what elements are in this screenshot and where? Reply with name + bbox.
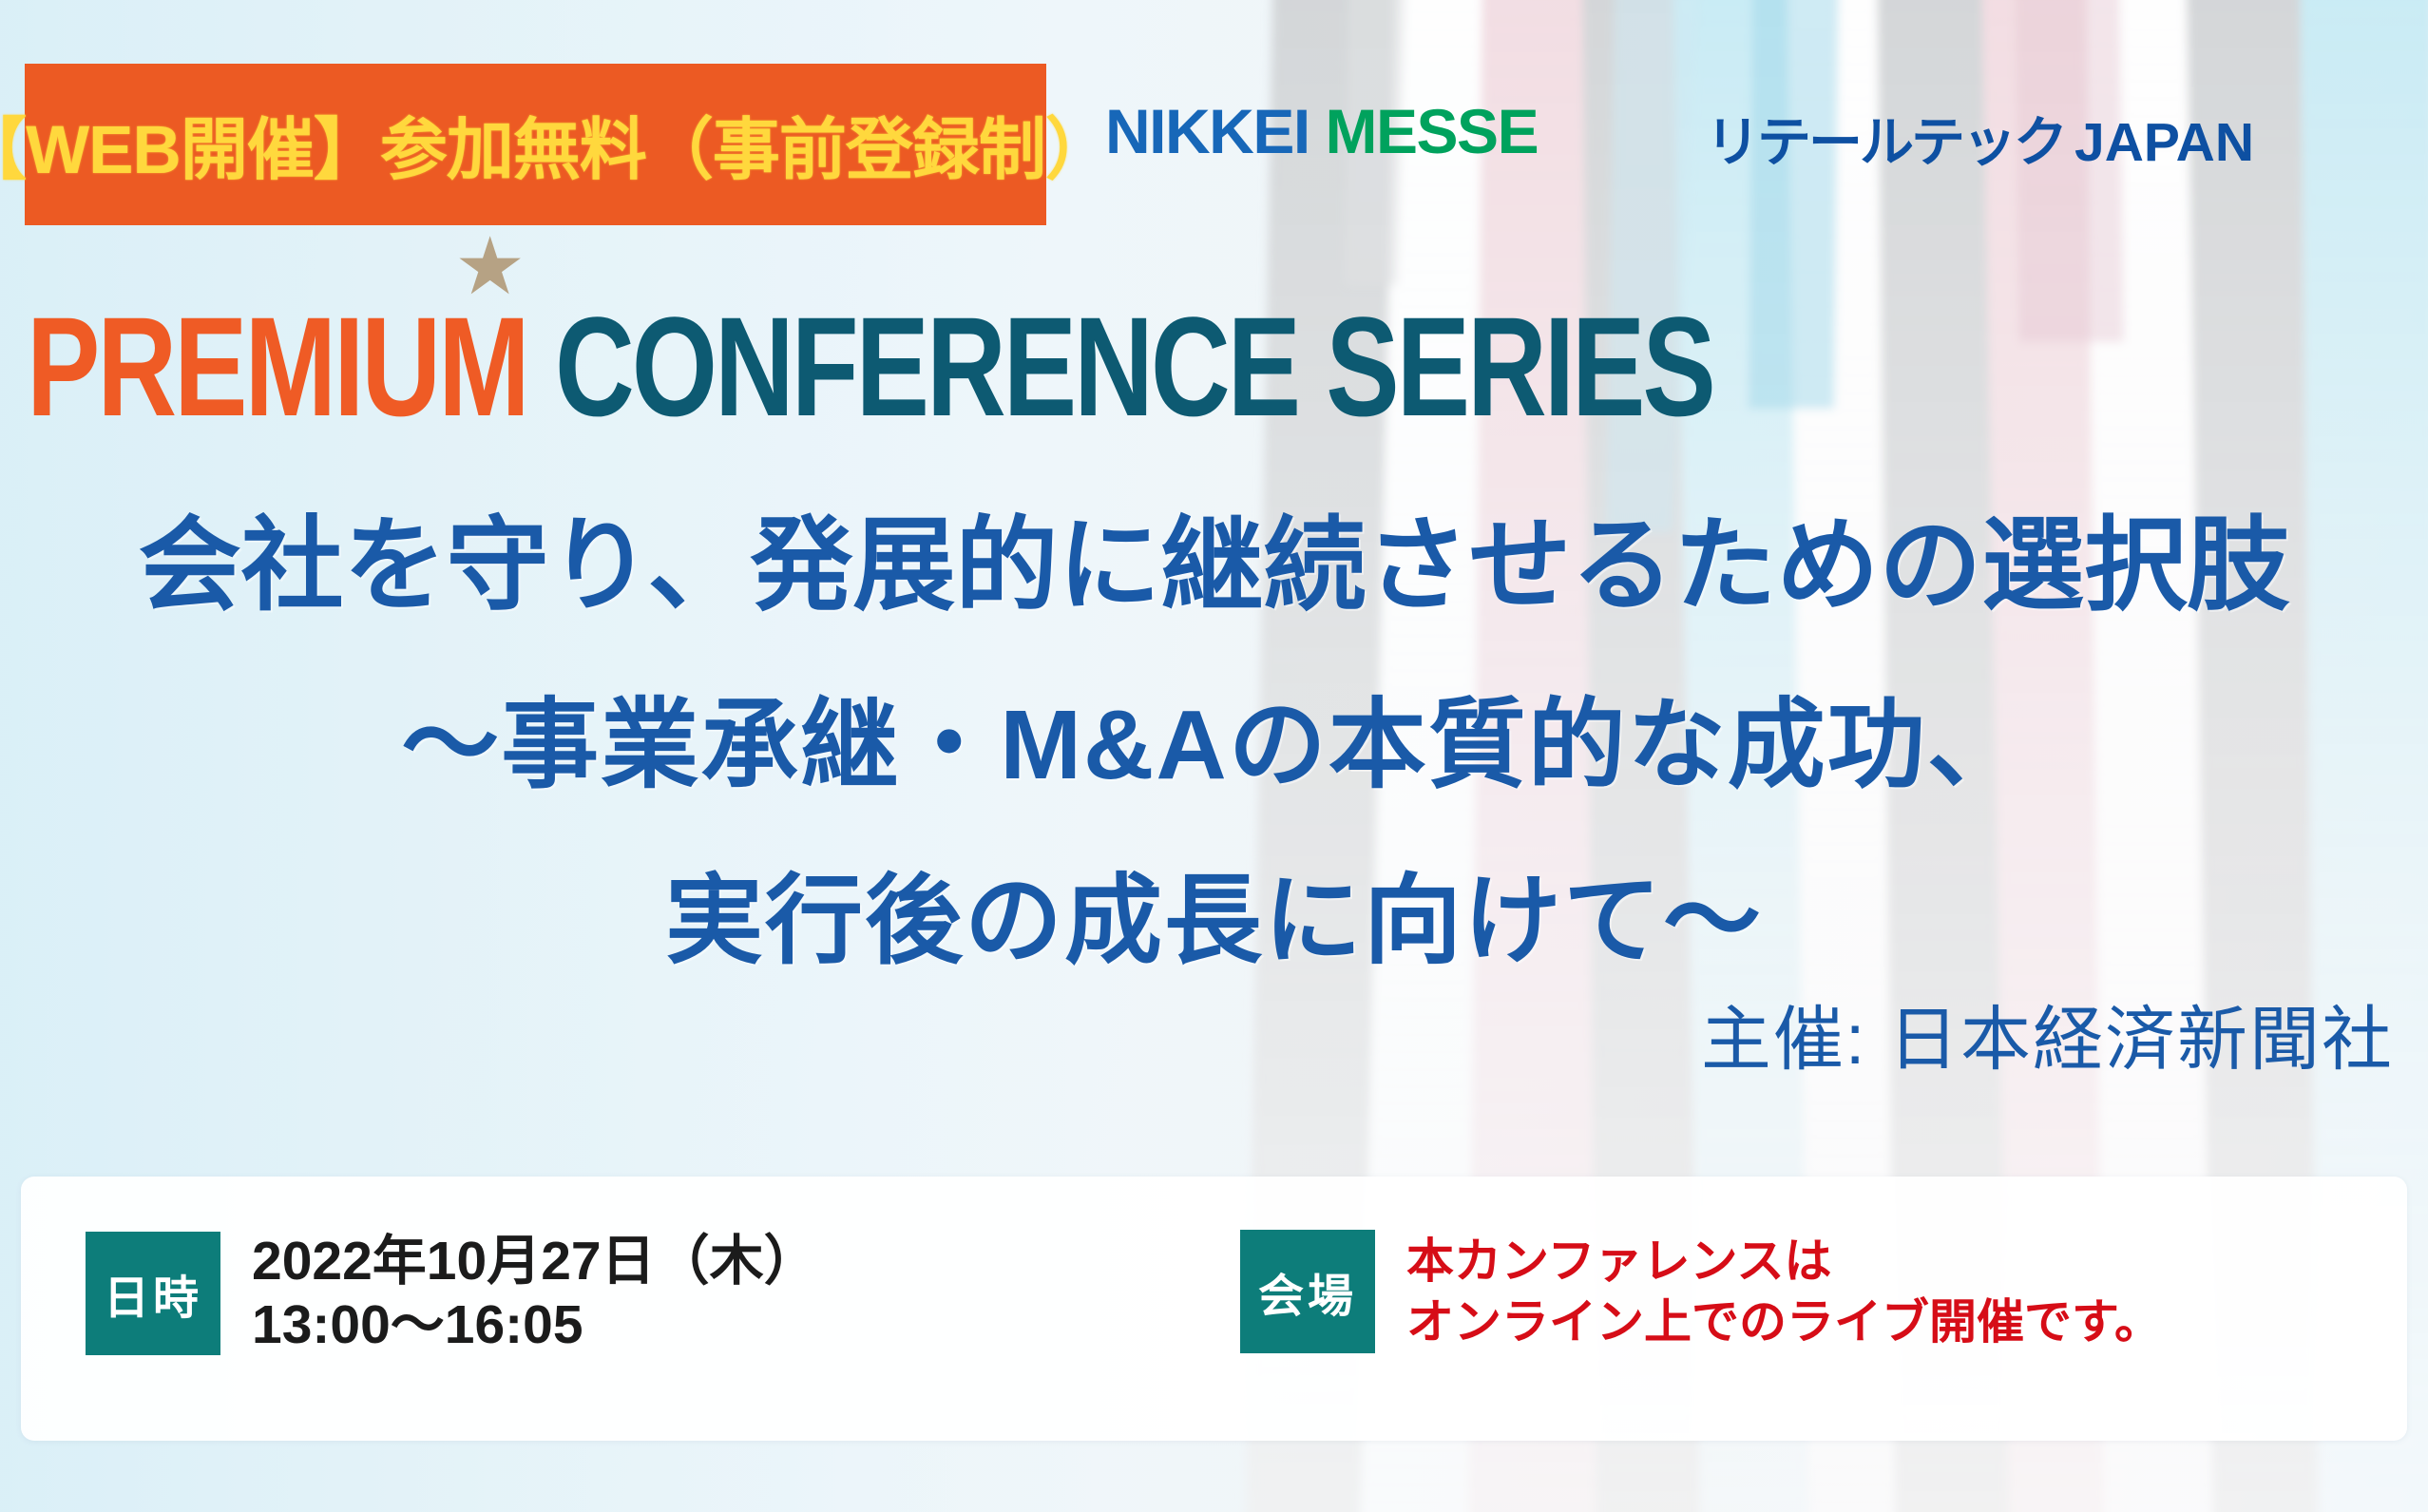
series-title: PREMIUM CONFERENCE SERIES xyxy=(27,285,1713,449)
series-title-conference: CONFERENCE SERIES xyxy=(527,288,1713,446)
nikkei-messe-logo: NIKKEI MESSE xyxy=(1105,95,1538,167)
datetime-values: 2022年10月27日（木） 13:00〜16:05 xyxy=(252,1230,818,1356)
retailtech-en-text: JAPAN xyxy=(2074,112,2254,173)
nikkei-logo-text: NIKKEI xyxy=(1105,96,1310,166)
event-venue-group: 会場 本カンファレンスは オンライン上でのライブ開催です。 xyxy=(1240,1230,2162,1353)
messe-logo-text: MESSE xyxy=(1326,96,1539,166)
headline-line-2: 〜事業承継・M&Aの本質的な成功、 xyxy=(0,665,2428,807)
datetime-date: 2022年10月27日（木） xyxy=(252,1230,818,1293)
datetime-tag: 日時 xyxy=(86,1232,220,1355)
organizer-label: 主催: 日本経済新聞社 xyxy=(1701,983,2394,1084)
conference-banner: 【WEB開催】参加無料（事前登録制） NIKKEI MESSE リテールテックJ… xyxy=(0,0,2428,1512)
event-info-card: 日時 2022年10月27日（木） 13:00〜16:05 会場 本カンファレン… xyxy=(21,1177,2407,1441)
headline-line-1: 会社を守り、発展的に継続させるための選択肢 xyxy=(0,483,2428,631)
series-title-premium: PREMIUM xyxy=(27,288,527,446)
event-datetime-group: 日時 2022年10月27日（木） 13:00〜16:05 xyxy=(86,1230,818,1356)
venue-values: 本カンファレンスは オンライン上でのライブ開催です。 xyxy=(1406,1231,2162,1352)
venue-line-2: オンライン上でのライブ開催です。 xyxy=(1406,1292,2162,1352)
web-free-badge: 【WEB開催】参加無料（事前登録制） xyxy=(25,64,1046,225)
datetime-time: 13:00〜16:05 xyxy=(252,1293,818,1357)
retailtech-japan-logo: リテールテックJAPAN xyxy=(1706,99,2254,177)
retailtech-jp-text: リテールテック xyxy=(1706,112,2065,173)
venue-tag: 会場 xyxy=(1240,1230,1375,1353)
web-free-badge-label: 【WEB開催】参加無料（事前登録制） xyxy=(0,96,1112,193)
headline-line-3: 実行後の成長に向けて〜 xyxy=(0,841,2428,983)
venue-line-1: 本カンファレンスは xyxy=(1406,1231,2162,1292)
